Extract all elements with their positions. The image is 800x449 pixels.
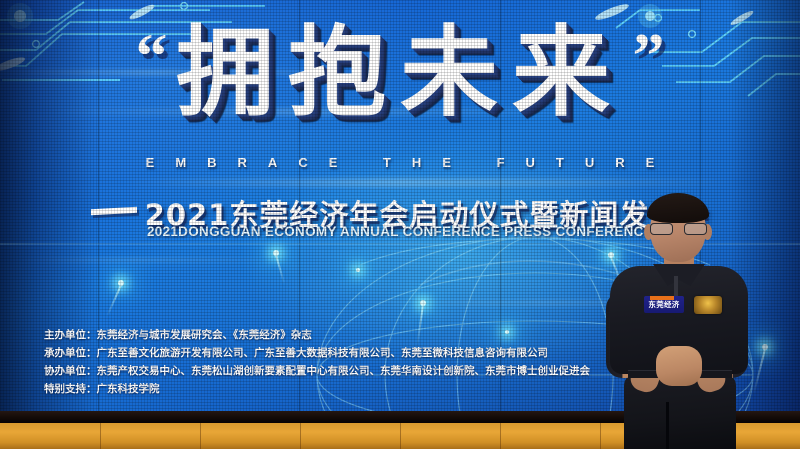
light-streak	[120, 178, 740, 187]
photo-scene: “ 拥抱未来 ” EMBRACE THE FUTURE 2021东莞经济年会启动…	[0, 0, 800, 449]
quote-open-mark: “	[136, 24, 168, 88]
map-node-pin	[356, 268, 360, 272]
title-block: “ 拥抱未来 ”	[0, 24, 800, 122]
trouser-seam	[666, 402, 669, 449]
page-title: 拥抱未来	[176, 24, 624, 122]
speaker-clasped-hands	[656, 346, 702, 386]
decorative-dash	[91, 206, 137, 214]
speaker-person: 东莞经济	[598, 196, 758, 449]
quote-close-mark: ”	[632, 24, 664, 88]
shirt-badge-label: 东莞经济	[648, 299, 679, 310]
speaker-hair	[647, 193, 709, 223]
tagline-english: EMBRACE THE FUTURE	[0, 155, 800, 170]
shirt-badge: 东莞经济	[644, 296, 684, 313]
shirt-emblem-icon	[694, 296, 722, 314]
speaker-eyeglasses-icon	[650, 223, 707, 236]
node-beam	[106, 285, 121, 317]
